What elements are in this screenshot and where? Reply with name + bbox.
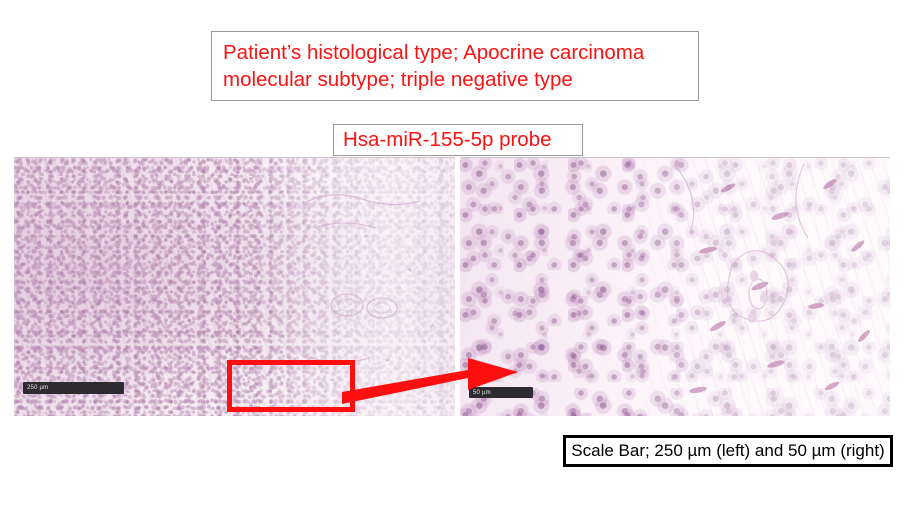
scalebar-caption-text: Scale Bar; 250 µm (left) and 50 µm (righ… [571, 440, 884, 462]
patient-histology-title-box: Patient’s histological type; Apocrine ca… [211, 31, 699, 101]
region-of-interest-rectangle [227, 360, 355, 412]
magnification-arrow [340, 346, 530, 404]
embedded-scalebar-left: 250 µm [23, 382, 124, 394]
probe-label-text: Hsa-miR-155-5p probe [343, 126, 552, 153]
probe-label-box: Hsa-miR-155-5p probe [333, 124, 583, 156]
embedded-scalebar-left-label: 250 µm [23, 385, 48, 391]
scalebar-caption-box: Scale Bar; 250 µm (left) and 50 µm (righ… [563, 435, 893, 467]
patient-histology-title-text: Patient’s histological type; Apocrine ca… [223, 39, 644, 93]
slide-canvas: Patient’s histological type; Apocrine ca… [0, 0, 916, 512]
